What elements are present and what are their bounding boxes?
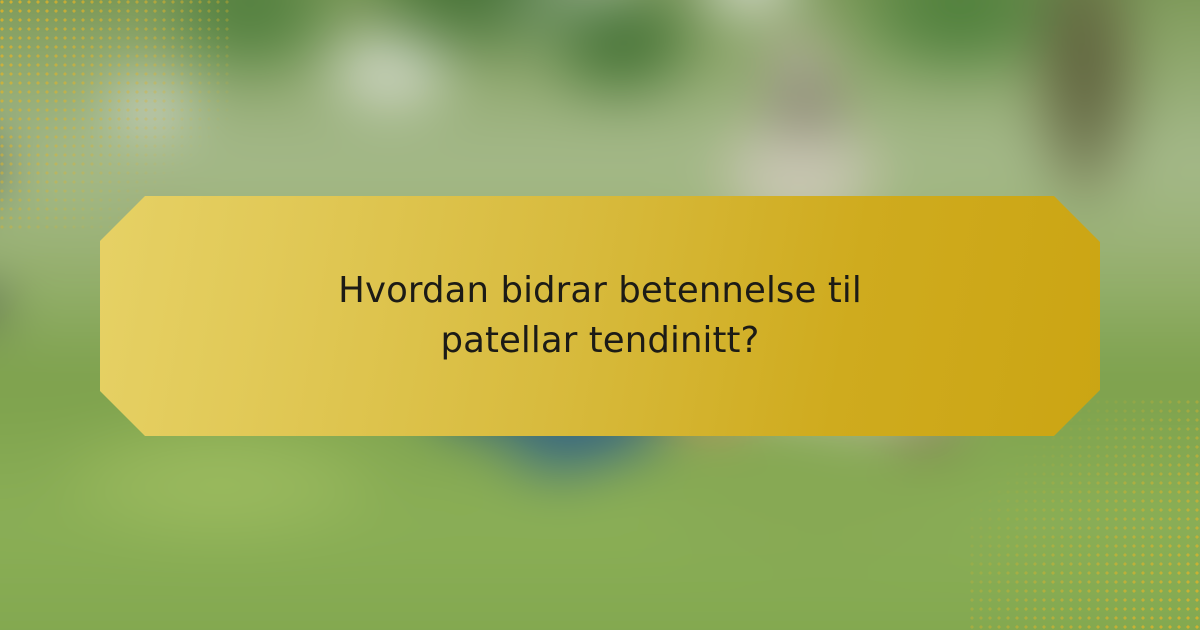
share-card-canvas: Hvordan bidrar betennelse til patellar t… (0, 0, 1200, 630)
banner-title-text: Hvordan bidrar betennelse til patellar t… (280, 266, 920, 367)
title-banner: Hvordan bidrar betennelse til patellar t… (100, 196, 1100, 436)
